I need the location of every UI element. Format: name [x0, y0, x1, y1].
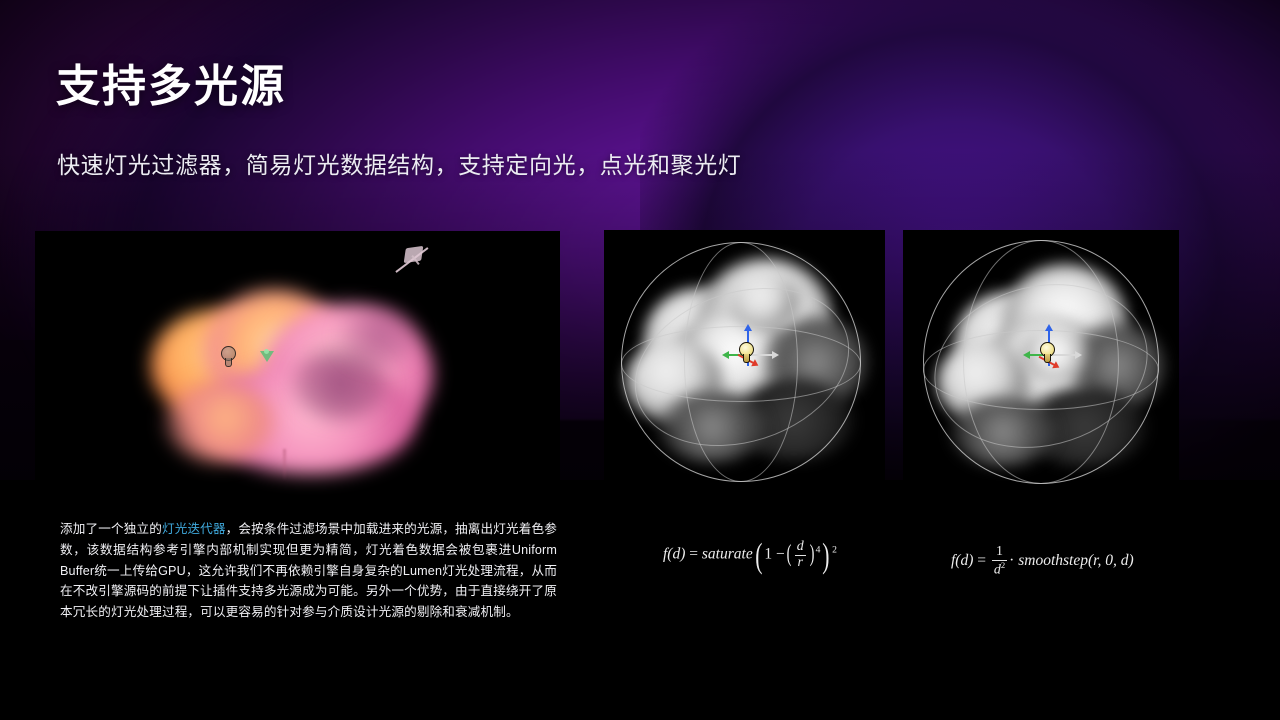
formula2-denominator: d2: [992, 560, 1007, 578]
formula1-inner-close-paren: ): [809, 546, 814, 563]
formula1-open-paren: (: [755, 543, 762, 568]
body-text-highlight: 灯光迭代器: [162, 522, 226, 536]
formula1-numerator: d: [795, 540, 806, 555]
light-bulb-gizmo[interactable]: [739, 342, 755, 364]
formula1-lhs: f(d): [663, 546, 685, 563]
light-bulb-gizmo[interactable]: [221, 346, 237, 368]
light-bulb-gizmo[interactable]: [1040, 342, 1056, 364]
formula1-function: saturate: [702, 546, 753, 563]
bulb-base-icon: [225, 358, 232, 367]
bulb-base-icon: [743, 354, 750, 363]
panel-1-viewport: [35, 231, 560, 499]
formula-falloff-saturate: f(d) = saturate(1 −(dr)4)2: [663, 540, 837, 570]
volumetric-cloud-colored: [143, 286, 463, 461]
formula-falloff-smoothstep: f(d) = 1d2· smoothstep(r, 0, d): [951, 545, 1134, 578]
formula1-outer-exponent: 2: [832, 545, 837, 556]
formula2-lhs: f(d): [951, 552, 973, 569]
cloud-lobe: [165, 382, 275, 462]
formula1-minus: −: [776, 546, 785, 563]
formula2-denominator-base: d: [994, 562, 1001, 577]
cloud-stem: [283, 449, 286, 481]
formula1-fraction: dr: [795, 540, 806, 570]
render-panel-point-light-saturate: [604, 230, 885, 493]
body-text-after: ，会按条件过滤场景中加载进来的光源，抽离出灯光着色参数，该数据结构参考引擎内部机…: [60, 522, 557, 619]
formula2-arguments: (r, 0, d): [1088, 552, 1134, 569]
bulb-base-icon: [1044, 354, 1051, 363]
formula1-inner-open-paren: (: [786, 546, 791, 563]
slide-title: 支持多光源: [56, 64, 286, 110]
panel-3-viewport: [903, 230, 1179, 493]
formula2-fraction: 1d2: [992, 545, 1007, 578]
cloud-shadow-lobe: [339, 306, 419, 366]
presentation-slide: 支持多光源 快速灯光过滤器，简易灯光数据结构，支持定向光，点光和聚光灯: [0, 0, 1280, 720]
formula1-inner-exponent: 4: [816, 545, 821, 556]
directional-light-gizmo[interactable]: [397, 247, 439, 281]
formula1-equals: =: [689, 546, 698, 563]
formula2-numerator: 1: [992, 545, 1007, 560]
body-paragraph: 添加了一个独立的灯光迭代器，会按条件过滤场景中加载进来的光源，抽离出灯光着色参数…: [60, 519, 557, 623]
body-text-before: 添加了一个独立的: [60, 522, 162, 536]
formula1-close-paren: ): [823, 543, 830, 568]
panel-2-viewport: [604, 230, 885, 493]
formula2-dot: ·: [1009, 552, 1014, 569]
render-panel-directional-spot: [35, 231, 560, 499]
formula1-one: 1: [764, 546, 772, 563]
formula2-equals: =: [977, 552, 986, 569]
formula2-denominator-exponent: 2: [1001, 560, 1005, 570]
slide-subtitle: 快速灯光过滤器，简易灯光数据结构，支持定向光，点光和聚光灯: [57, 151, 741, 181]
spot-source-dot-icon: [264, 349, 269, 354]
render-panel-point-light-smoothstep: [903, 230, 1179, 493]
spot-light-cone-gizmo[interactable]: [258, 349, 274, 365]
formula2-function: smoothstep: [1018, 552, 1088, 569]
formula1-denominator: r: [795, 555, 806, 571]
